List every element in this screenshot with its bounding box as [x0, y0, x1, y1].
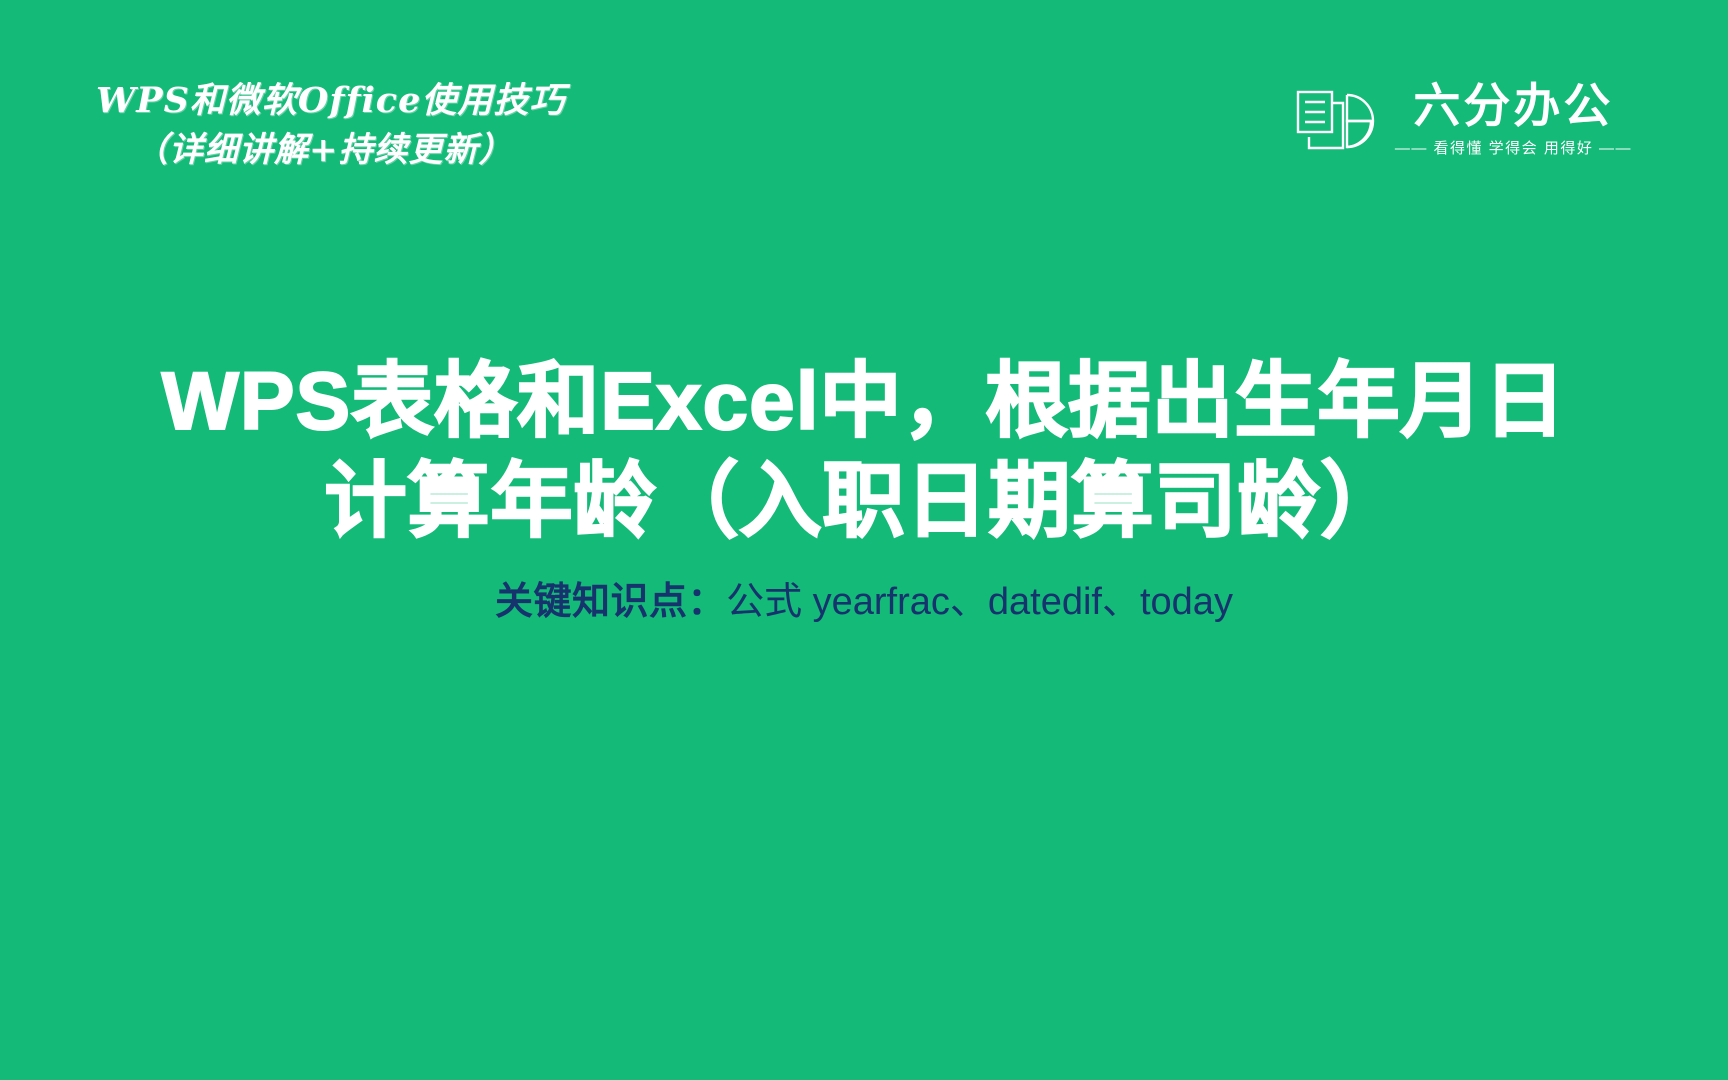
series-label-line-2: （详细讲解+持续更新）	[134, 128, 565, 173]
brand-text: 六分办公 —— 看得懂 学得会 用得好 ——	[1395, 82, 1632, 158]
page-title-line-1: WPS表格和Excel中，根据出生年月日	[0, 352, 1728, 452]
brand-logo: 六分办公 —— 看得懂 学得会 用得好 ——	[1295, 82, 1632, 158]
subtitle: 关键知识点：公式 yearfrac、datedif、today	[0, 578, 1728, 627]
subtitle-value: 公式 yearfrac、datedif、today	[726, 581, 1233, 623]
series-label-line-1: WPS和微软Office使用技巧	[96, 78, 565, 124]
document-piechart-icon	[1295, 85, 1377, 155]
series-label: WPS和微软Office使用技巧 （详细讲解+持续更新）	[96, 78, 565, 173]
brand-tagline: —— 看得懂 学得会 用得好 ——	[1395, 137, 1632, 158]
brand-name: 六分办公	[1413, 82, 1613, 130]
subtitle-key-label: 关键知识点：	[495, 581, 726, 623]
slide-canvas: WPS和微软Office使用技巧 （详细讲解+持续更新） 六分办公 —— 看得	[0, 0, 1728, 1080]
page-title: WPS表格和Excel中，根据出生年月日 计算年龄（入职日期算司龄）	[0, 352, 1728, 552]
page-title-line-2: 计算年龄（入职日期算司龄）	[0, 452, 1728, 552]
